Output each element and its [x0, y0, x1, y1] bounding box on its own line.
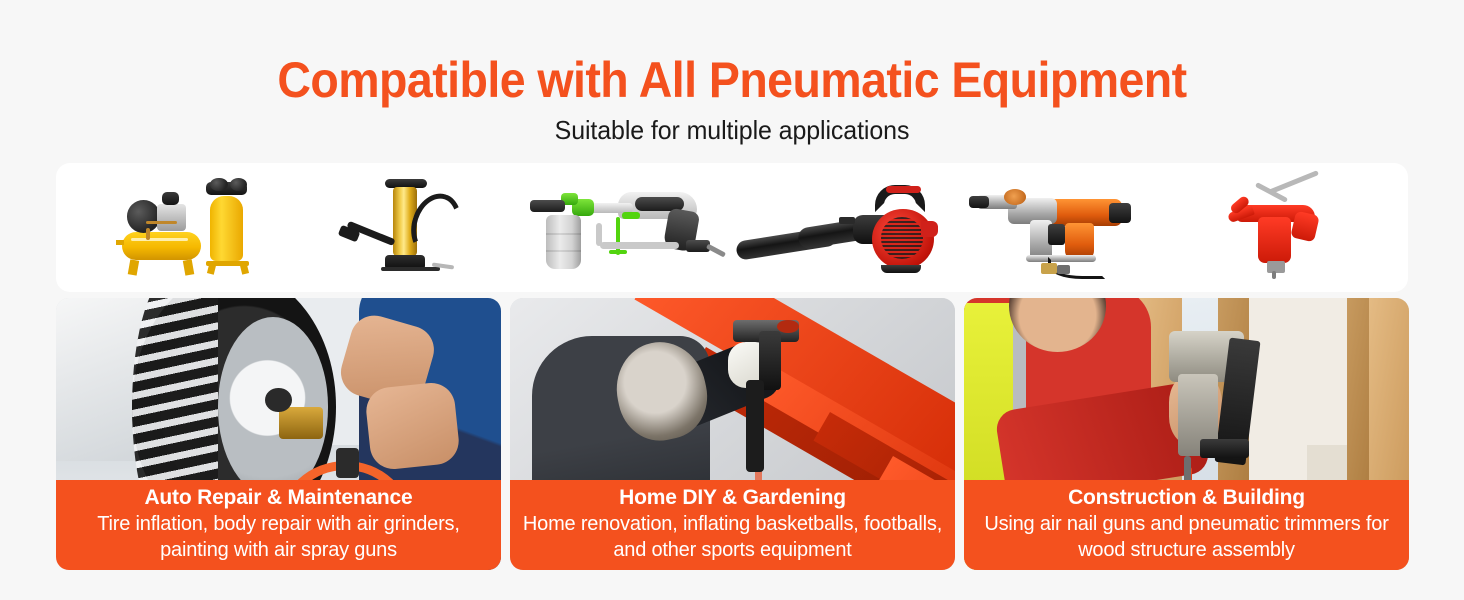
use-case-card-auto-repair[interactable]: Auto Repair & Maintenance Tire inflation…: [56, 298, 501, 570]
use-case-card-construction[interactable]: Construction & Building Using air nail g…: [964, 298, 1409, 570]
product-cell-foot-pump: [293, 163, 512, 292]
page-title: Compatible with All Pneumatic Equipment: [51, 52, 1413, 108]
leaf-blower-icon: [732, 176, 951, 280]
use-case-title: Construction & Building: [1068, 484, 1305, 511]
air-blow-gun-icon: [1171, 176, 1390, 280]
core-drill-icon: [951, 176, 1170, 280]
pneumatic-equipment-banner: Compatible with All Pneumatic Equipment …: [0, 0, 1464, 600]
product-cell-blow-gun: [1171, 163, 1390, 292]
air-compressor-icon: [74, 176, 293, 280]
compatible-equipment-strip: [56, 163, 1408, 292]
use-case-description: Using air nail guns and pneumatic trimme…: [970, 511, 1403, 563]
product-cell-air-compressor: [74, 163, 293, 292]
foam-cannon-pressure-washer-icon: [513, 176, 732, 280]
product-cell-leaf-blower: [732, 163, 951, 292]
use-case-caption: Construction & Building Using air nail g…: [964, 480, 1409, 570]
product-cell-foam-cannon: [513, 163, 732, 292]
foot-pump-icon: [293, 176, 512, 280]
use-case-caption: Home DIY & Gardening Home renovation, in…: [510, 480, 955, 570]
use-case-title: Auto Repair & Maintenance: [144, 484, 412, 511]
use-case-description: Home renovation, inflating basketballs, …: [516, 511, 949, 563]
heading-block: Compatible with All Pneumatic Equipment …: [0, 52, 1464, 146]
page-subtitle: Suitable for multiple applications: [29, 114, 1434, 146]
use-case-card-list: Auto Repair & Maintenance Tire inflation…: [56, 298, 1409, 570]
use-case-caption: Auto Repair & Maintenance Tire inflation…: [56, 480, 501, 570]
product-cell-core-drill: [951, 163, 1170, 292]
use-case-card-home-diy[interactable]: Home DIY & Gardening Home renovation, in…: [510, 298, 955, 570]
use-case-description: Tire inflation, body repair with air gri…: [62, 511, 495, 563]
use-case-title: Home DIY & Gardening: [619, 484, 846, 511]
